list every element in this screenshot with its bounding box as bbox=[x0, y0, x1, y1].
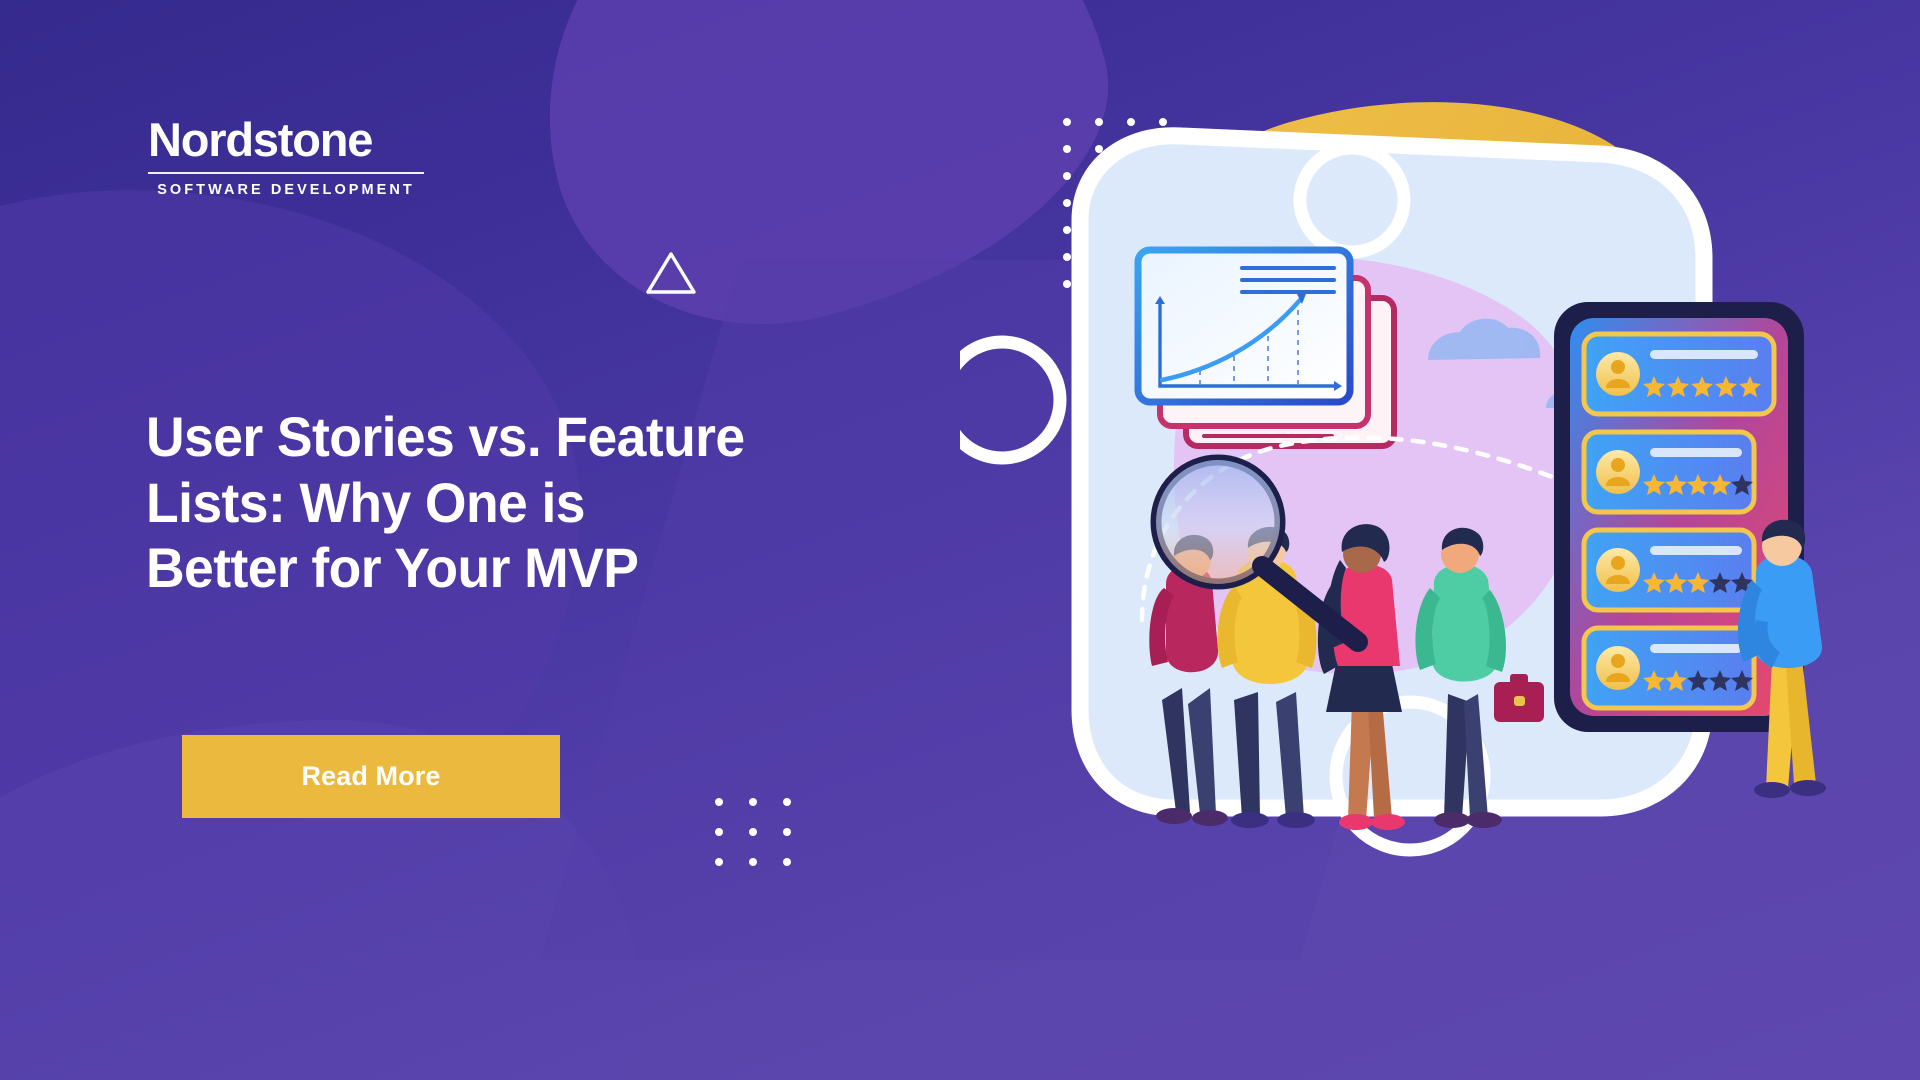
decorative-dot bbox=[715, 858, 723, 866]
review-card-3 bbox=[1584, 530, 1754, 610]
decorative-dot bbox=[715, 798, 723, 806]
decorative-dot bbox=[783, 828, 791, 836]
read-more-button[interactable]: Read More bbox=[182, 735, 560, 818]
review-card-2 bbox=[1584, 432, 1754, 512]
headline-line-2: Lists: Why One is bbox=[146, 470, 872, 536]
page-title: User Stories vs. Feature Lists: Why One … bbox=[146, 404, 906, 601]
read-more-label: Read More bbox=[302, 761, 441, 792]
decorative-dot bbox=[749, 798, 757, 806]
user-review-ratings-illustration bbox=[960, 60, 1920, 1040]
banner-stage: Nordstone SOFTWARE DEVELOPMENT User Stor… bbox=[0, 0, 1920, 1080]
decorative-dot bbox=[783, 798, 791, 806]
phone-device bbox=[1554, 302, 1804, 732]
headline-line-3: Better for Your MVP bbox=[146, 535, 872, 601]
decorative-dot bbox=[715, 828, 723, 836]
brand-name: Nordstone bbox=[148, 116, 448, 163]
triangle-icon bbox=[645, 250, 697, 296]
decorative-dot bbox=[749, 858, 757, 866]
review-card-1 bbox=[1584, 334, 1774, 414]
chart-card-stack bbox=[1138, 250, 1394, 446]
brand-logo[interactable]: Nordstone SOFTWARE DEVELOPMENT bbox=[148, 116, 448, 198]
decorative-dot bbox=[749, 828, 757, 836]
headline-line-1: User Stories vs. Feature bbox=[146, 404, 872, 470]
decorative-dot bbox=[783, 858, 791, 866]
review-card-4 bbox=[1584, 628, 1754, 708]
logo-divider bbox=[148, 172, 424, 174]
dot-grid-small bbox=[715, 798, 791, 866]
brand-tagline: SOFTWARE DEVELOPMENT bbox=[148, 182, 424, 198]
